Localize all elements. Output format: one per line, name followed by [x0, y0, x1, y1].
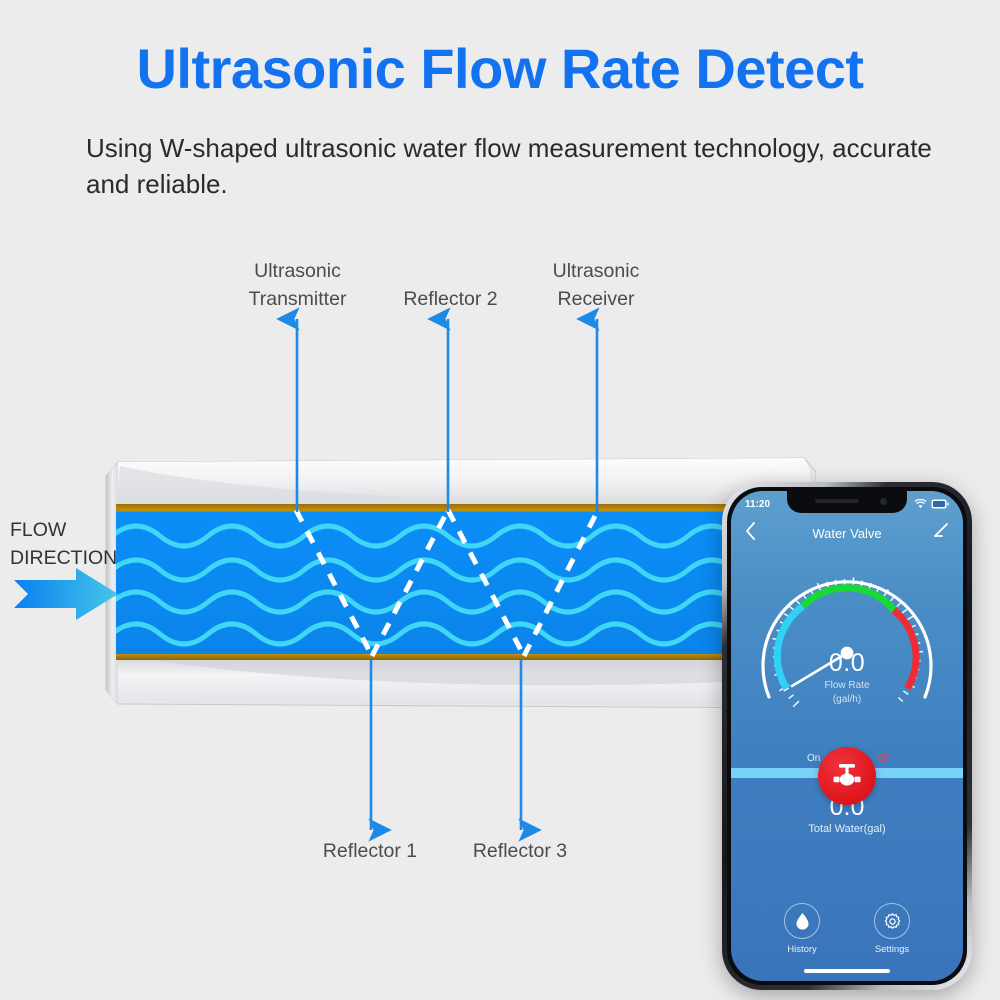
valve-on-label: On — [807, 753, 820, 764]
label-reflector-3: Reflector 3 — [445, 838, 595, 866]
nav-item-settings[interactable]: Settings — [874, 903, 910, 955]
home-indicator[interactable] — [804, 969, 890, 973]
flow-rate-caption: Flow Rate (gal/h) — [747, 679, 947, 706]
label-reflector-2: Reflector 2 — [383, 286, 518, 314]
smartphone-mockup: 11:20 — [722, 482, 972, 990]
history-icon-circle — [784, 903, 820, 939]
nav-item-history[interactable]: History — [784, 903, 820, 955]
flow-meter-device — [104, 450, 816, 716]
bottom-nav: History Settings — [731, 903, 963, 955]
app-bar-title: Water Valve — [731, 526, 963, 541]
phone-bezel: 11:20 — [727, 487, 967, 985]
infographic-stage: Ultrasonic Flow Rate Detect Using W-shap… — [0, 0, 1000, 1000]
chevron-left-icon — [745, 522, 756, 540]
app-bar: Water Valve — [731, 517, 963, 549]
total-water-caption: Total Water(gal) — [731, 823, 963, 835]
water-valve-icon — [832, 762, 862, 790]
settings-icon-circle — [874, 903, 910, 939]
flow-rate-gauge: 0.0 Flow Rate (gal/h) — [747, 553, 947, 723]
device-graphic — [104, 450, 816, 716]
water-drop-icon — [795, 912, 810, 930]
phone-screen: 11:20 — [731, 491, 963, 981]
gear-icon — [884, 913, 901, 930]
back-button[interactable] — [745, 522, 756, 545]
gauge-arc-mid — [803, 588, 894, 610]
status-bar: 11:20 — [731, 491, 963, 515]
page-title: Ultrasonic Flow Rate Detect — [0, 40, 1000, 99]
label-ultrasonic-receiver: Ultrasonic Receiver — [520, 258, 672, 313]
page-subtitle: Using W-shaped ultrasonic water flow mea… — [86, 131, 966, 203]
nav-label-history: History — [787, 944, 817, 955]
status-time: 11:20 — [745, 499, 770, 510]
valve-toggle-button[interactable] — [818, 747, 876, 805]
flow-direction-label: FLOW DIRECTION — [10, 516, 140, 573]
pencil-edit-icon — [933, 523, 949, 539]
flow-rate-value: 0.0 — [747, 649, 947, 678]
flow-direction-arrow-icon — [12, 566, 122, 622]
label-ultrasonic-transmitter: Ultrasonic Transmitter — [215, 258, 380, 313]
nav-label-settings: Settings — [875, 944, 909, 955]
status-indicators — [914, 499, 949, 509]
valve-off-label: Off — [878, 753, 891, 764]
edit-button[interactable] — [933, 523, 949, 544]
label-reflector-1: Reflector 1 — [295, 838, 445, 866]
wifi-icon — [914, 499, 927, 509]
battery-icon — [931, 499, 949, 509]
